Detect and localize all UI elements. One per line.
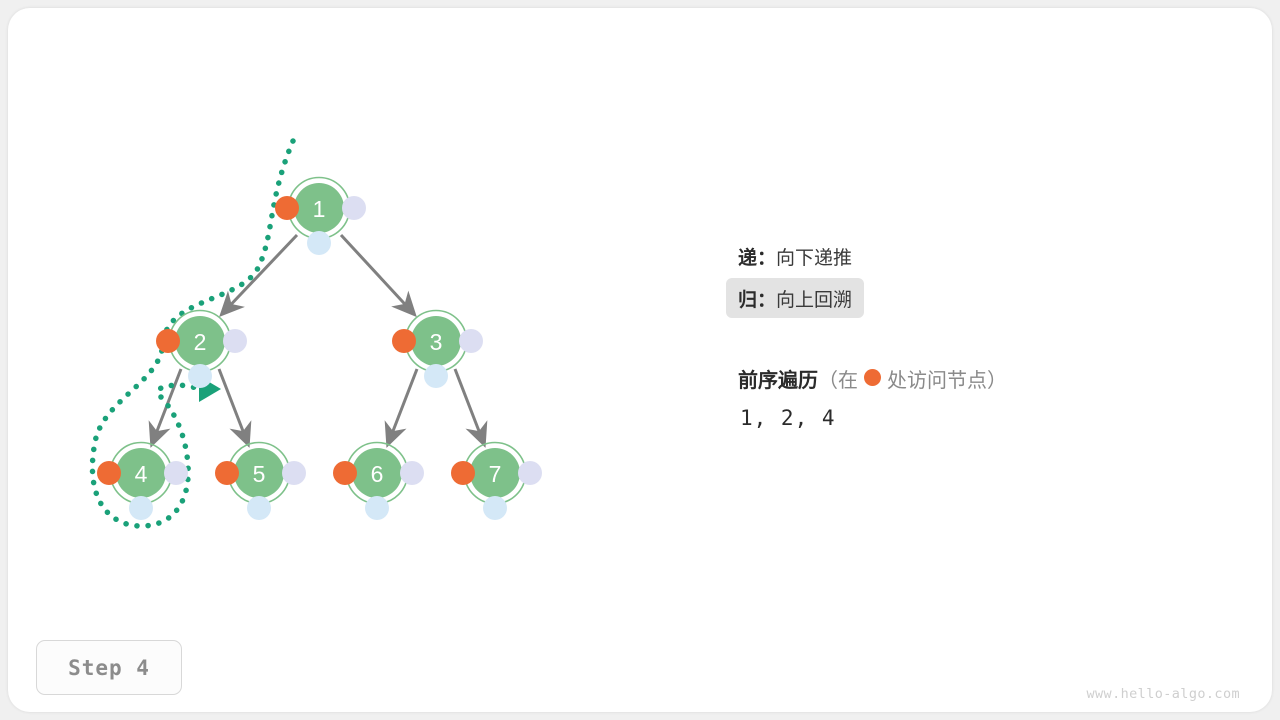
tree-nodes: 1 2 3 <box>97 178 542 521</box>
edge-2-5 <box>219 369 248 444</box>
step-label: Step 4 <box>68 656 150 680</box>
legend-value-descend: 向下递推 <box>776 243 852 270</box>
traversal-order-note-right: 处访问节点） <box>887 364 1007 393</box>
node-label-4: 4 <box>135 461 148 487</box>
node-bottom-dot-5 <box>247 496 271 520</box>
node-label-5: 5 <box>253 461 266 487</box>
traversal-order-title-row: 前序遍历 （在 处访问节点） <box>726 358 1246 398</box>
node-bottom-dot-4 <box>129 496 153 520</box>
node-label-3: 3 <box>430 329 443 355</box>
node-right-dot-7 <box>518 461 542 485</box>
node-bottom-dot-1 <box>307 231 331 255</box>
node-visit-dot-4 <box>97 461 121 485</box>
node-label-7: 7 <box>489 461 502 487</box>
traversal-order-sequence: 1, 2, 4 <box>726 406 1246 430</box>
node-right-dot-5 <box>282 461 306 485</box>
node-bottom-dot-7 <box>483 496 507 520</box>
node-visit-dot-3 <box>392 329 416 353</box>
legend-row-return: 归： 向上回溯 <box>726 278 864 318</box>
diagram-canvas: 1 2 3 <box>0 0 1280 720</box>
node-right-dot-3 <box>459 329 483 353</box>
node-right-dot-6 <box>400 461 424 485</box>
legend-key-return: 归： <box>738 285 776 312</box>
tree-node-3[interactable]: 3 <box>392 311 483 389</box>
tree-node-5[interactable]: 5 <box>215 443 306 521</box>
tree-node-7[interactable]: 7 <box>451 443 542 521</box>
legend-row-descend: 递： 向下递推 <box>726 236 864 276</box>
node-visit-dot-1 <box>275 196 299 220</box>
orange-visit-dot-icon <box>864 369 881 386</box>
legend-key-descend: 递： <box>738 243 776 270</box>
tree-node-2[interactable]: 2 <box>156 311 247 389</box>
legend-value-return: 向上回溯 <box>776 285 852 312</box>
edge-1-2 <box>222 235 297 314</box>
node-visit-dot-6 <box>333 461 357 485</box>
traversal-order-title: 前序遍历 <box>738 364 818 393</box>
tree-node-4[interactable]: 4 <box>97 443 188 521</box>
node-visit-dot-5 <box>215 461 239 485</box>
node-right-dot-2 <box>223 329 247 353</box>
node-label-2: 2 <box>194 329 207 355</box>
node-visit-dot-2 <box>156 329 180 353</box>
node-label-1: 1 <box>313 196 326 222</box>
node-label-6: 6 <box>371 461 384 487</box>
node-bottom-dot-2 <box>188 364 212 388</box>
step-indicator: Step 4 <box>36 640 182 695</box>
tree-node-6[interactable]: 6 <box>333 443 424 521</box>
traversal-order-block: 前序遍历 （在 处访问节点） 1, 2, 4 <box>726 358 1246 430</box>
node-bottom-dot-3 <box>424 364 448 388</box>
edge-1-3 <box>341 235 414 314</box>
watermark: www.hello-algo.com <box>1087 686 1241 702</box>
node-right-dot-1 <box>342 196 366 220</box>
edge-3-7 <box>455 369 484 444</box>
node-bottom-dot-6 <box>365 496 389 520</box>
edge-3-6 <box>388 369 417 444</box>
traversal-order-note-left: （在 <box>818 364 858 393</box>
legend: 递： 向下递推 归： 向上回溯 <box>726 236 1246 320</box>
node-visit-dot-7 <box>451 461 475 485</box>
node-right-dot-4 <box>164 461 188 485</box>
